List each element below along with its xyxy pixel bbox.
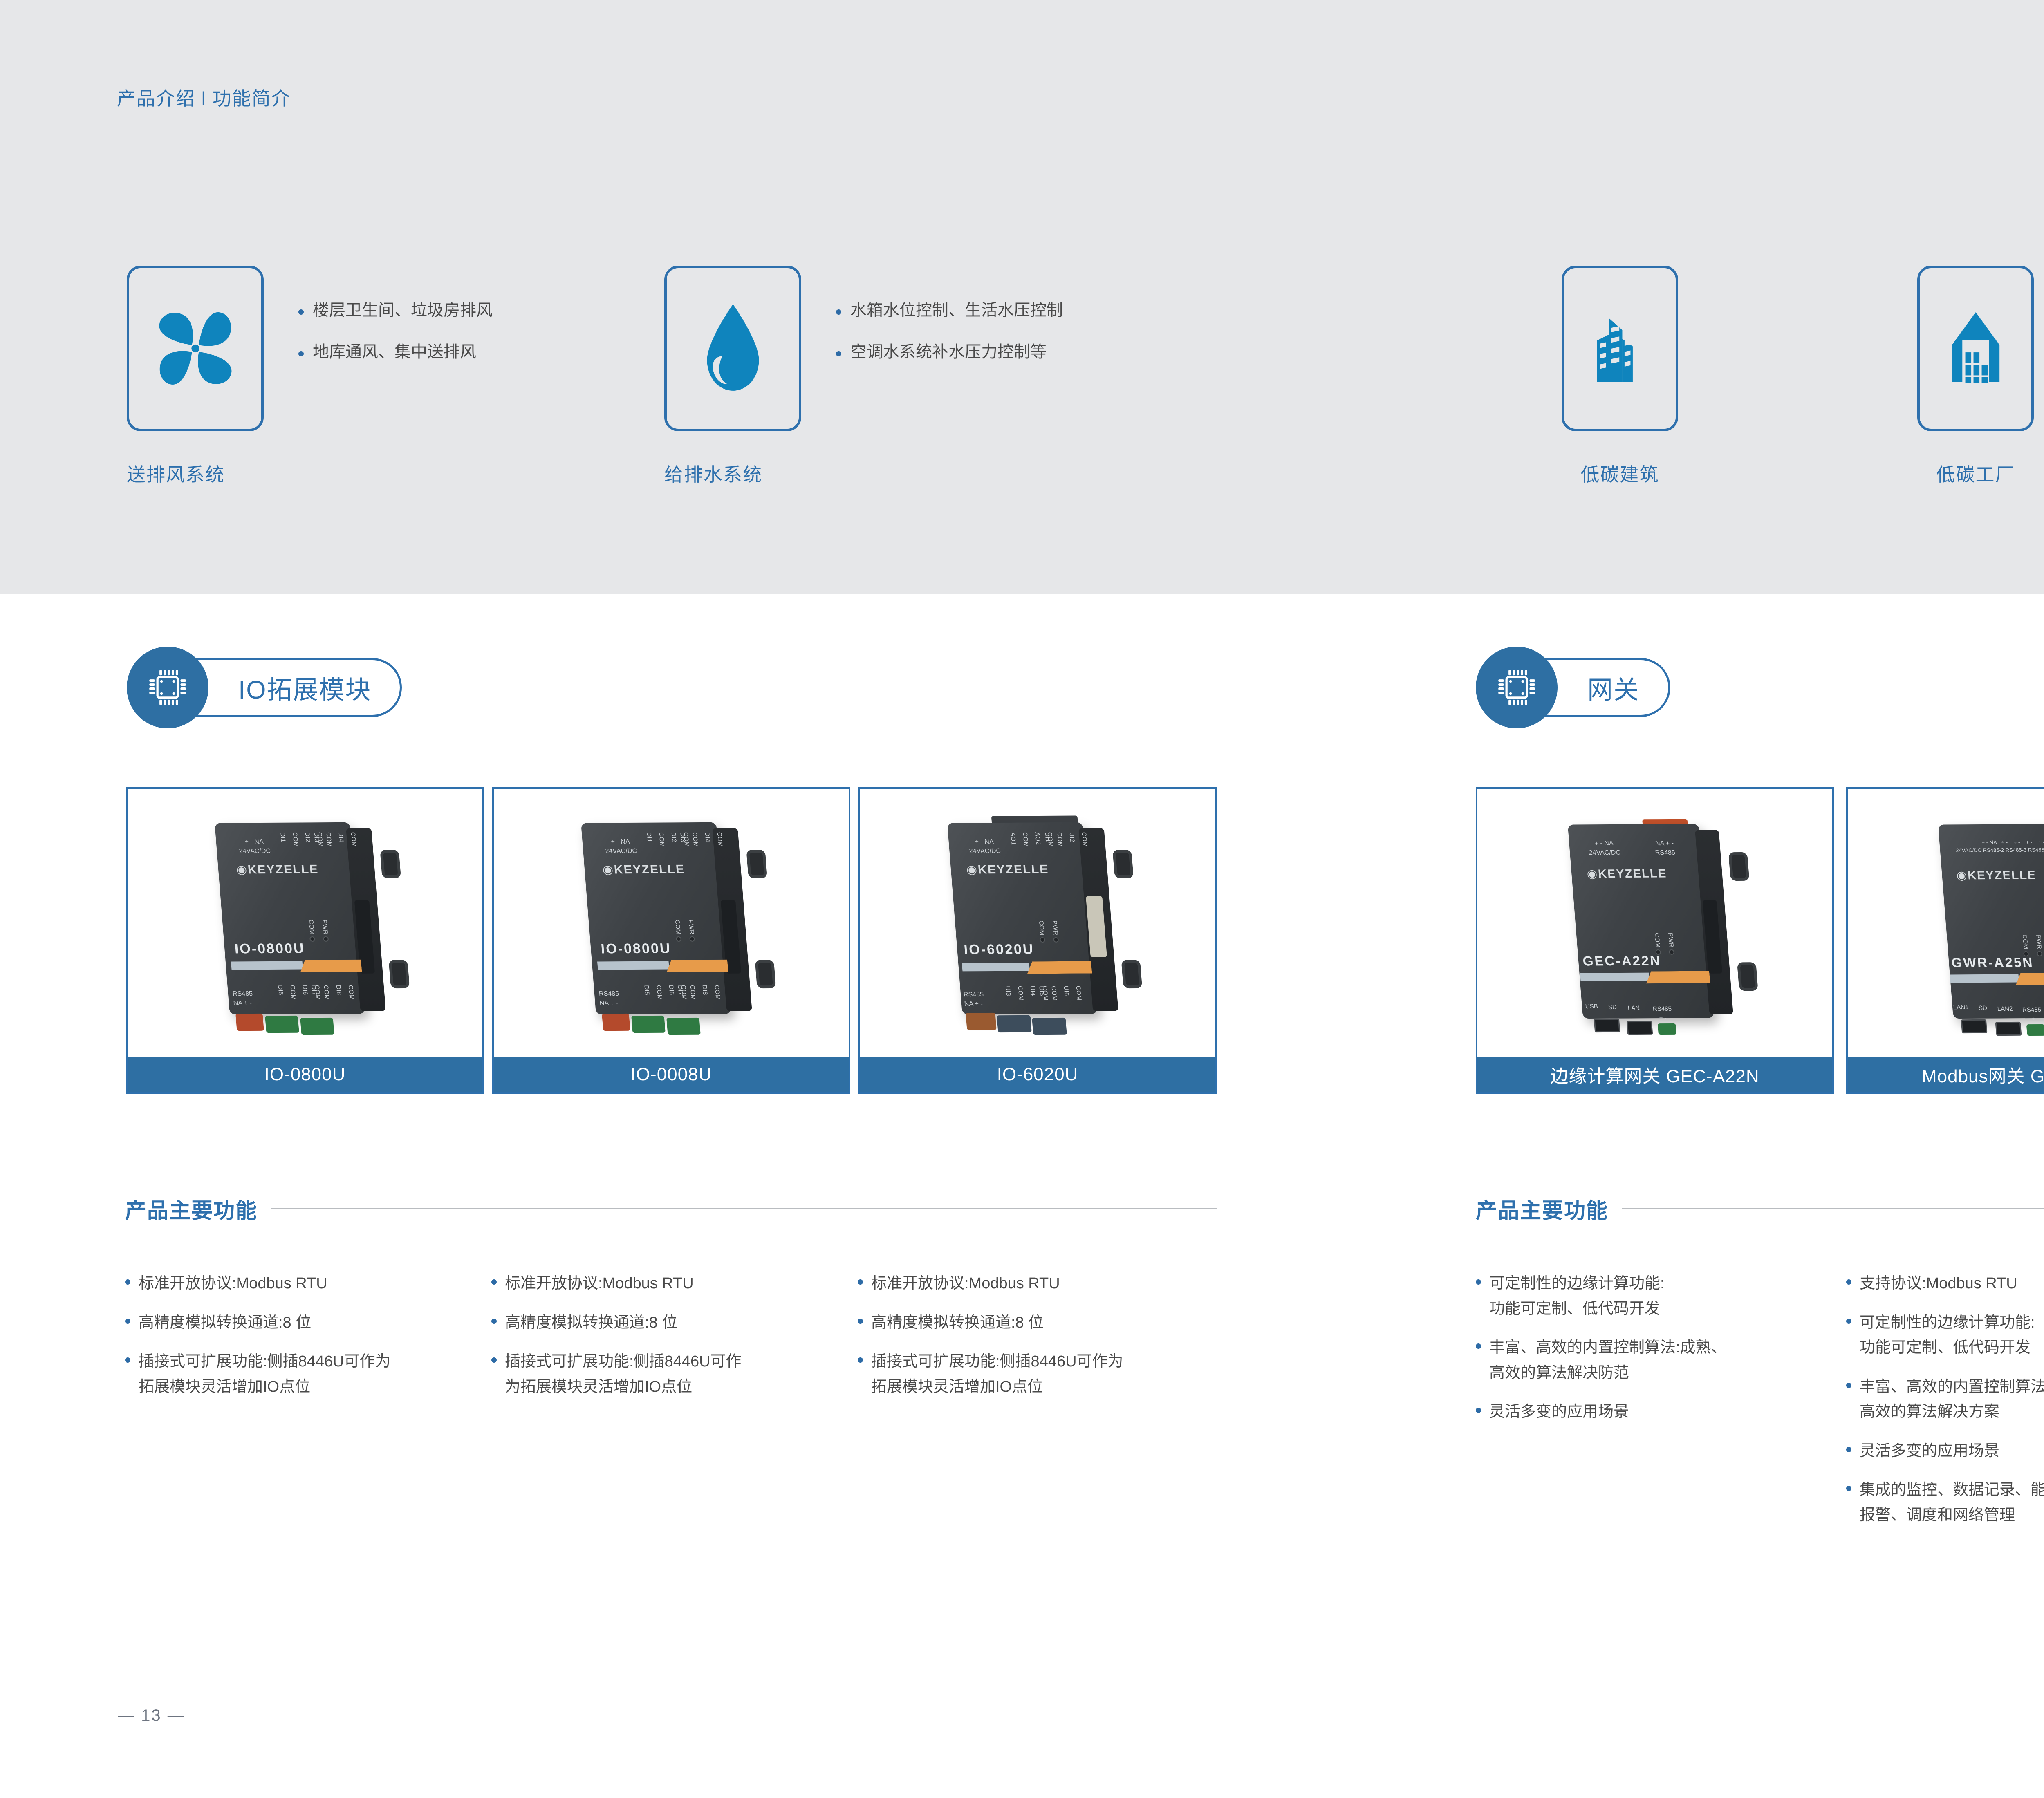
bullet-dot-icon xyxy=(1476,1408,1481,1413)
scenario-title: 给排水系统 xyxy=(664,460,762,487)
feature-text: 标准开放协议:Modbus RTU xyxy=(871,1275,1060,1292)
product-image-io-6020u: + - NA24VAC/DC AO1COMAO2COM UI1COMUI2COM… xyxy=(860,789,1215,1060)
feature-text: 标准开放协议:Modbus RTU xyxy=(505,1275,694,1292)
features-heading-gateways: 产品主要功能 xyxy=(1476,1193,2044,1224)
list-item: 灵活多变的应用场景 xyxy=(1476,1399,1836,1425)
heading-rule xyxy=(1622,1208,2044,1209)
low-carbon-factory-title: 低碳工厂 xyxy=(1917,460,2034,487)
list-item: 空调水系统补水压力控制等 xyxy=(836,342,1063,362)
feature-column-3-io: 标准开放协议:Modbus RTU 高精度模拟转换通道:8 位 插接式可扩展功能… xyxy=(858,1271,1226,1413)
feature-text: 丰富、高效的内置控制算法:成熟、 xyxy=(1860,1378,2044,1395)
chip-icon xyxy=(1476,647,1558,728)
list-item: 标准开放协议:Modbus RTU xyxy=(491,1271,851,1296)
bullet-dot-icon xyxy=(1476,1279,1481,1285)
bullet-text: 地库通风、集中送排风 xyxy=(313,342,476,362)
features-heading-text: 产品主要功能 xyxy=(1476,1193,1608,1224)
feature-text: 插接式可扩展功能:侧插8446U可作为 xyxy=(139,1353,391,1370)
feature-text: 高精度模拟转换通道:8 位 xyxy=(871,1314,1044,1331)
list-item: 地库通风、集中送排风 xyxy=(298,342,493,362)
feature-text: 标准开放协议:Modbus RTU xyxy=(139,1275,327,1292)
feature-text-cont: 报警、调度和网络管理 xyxy=(1860,1503,2044,1528)
product-image-io-0800u: + - NA24VAC/DC DI1COMDI2COM DI3COMDI4COM… xyxy=(128,789,482,1060)
feature-text: 丰富、高效的内置控制算法:成熟、 xyxy=(1489,1339,1727,1356)
features-heading-text: 产品主要功能 xyxy=(125,1193,258,1224)
page-number-left: — 13 — xyxy=(118,1706,185,1725)
bullet-text: 空调水系统补水压力控制等 xyxy=(850,342,1047,362)
product-caption: IO-0008U xyxy=(494,1057,849,1092)
feature-text: 可定制性的边缘计算功能: xyxy=(1489,1275,1665,1292)
product-card-io-6020u[interactable]: + - NA24VAC/DC AO1COMAO2COM UI1COMUI2COM… xyxy=(858,787,1217,1094)
bullet-dot-icon xyxy=(1846,1279,1851,1285)
water-drop-icon xyxy=(667,268,799,429)
product-caption: IO-6020U xyxy=(860,1057,1215,1092)
feature-text: 集成的监控、数据记录、能耗计量、 xyxy=(1860,1481,2044,1498)
office-building-icon xyxy=(1564,268,1676,429)
bullet-dot-icon xyxy=(858,1279,863,1285)
feature-text: 支持协议:Modbus RTU xyxy=(1860,1275,2017,1292)
bullet-dot-icon xyxy=(491,1279,497,1285)
feature-text: 插接式可扩展功能:侧插8446U可作为 xyxy=(871,1353,1123,1370)
product-card-io-0800u[interactable]: + - NA24VAC/DC DI1COMDI2COM DI3COMDI4COM… xyxy=(126,787,484,1094)
features-heading-io: 产品主要功能 xyxy=(125,1193,1217,1224)
product-image-io-0008u: + - NA24VAC/DC DI1COMDI2COM DI3COMDI4COM… xyxy=(494,789,849,1060)
product-card-gec-a22n[interactable]: + - NA24VAC/DC NA + -RS485 ◉KEYZELLE COM… xyxy=(1476,787,1834,1094)
list-item: 楼层卫生间、垃圾房排风 xyxy=(298,300,493,320)
product-image-gec-a22n: + - NA24VAC/DC NA + -RS485 ◉KEYZELLE COM… xyxy=(1477,789,1832,1060)
feature-column-1-io: 标准开放协议:Modbus RTU 高精度模拟转换通道:8 位 插接式可扩展功能… xyxy=(125,1271,485,1413)
list-item: 可定制性的边缘计算功能: 功能可定制、低代码开发 xyxy=(1846,1310,2044,1361)
bullet-dot-icon xyxy=(298,309,304,315)
feature-text: 高精度模拟转换通道:8 位 xyxy=(505,1314,677,1331)
bullet-dot-icon xyxy=(1846,1319,1851,1324)
list-item: 高精度模拟转换通道:8 位 xyxy=(491,1310,851,1336)
list-item: 支持协议:Modbus RTU xyxy=(1846,1271,2044,1296)
feature-text: 灵活多变的应用场景 xyxy=(1860,1442,1999,1460)
section-title: 网关 xyxy=(1587,669,1640,706)
list-item: 标准开放协议:Modbus RTU xyxy=(125,1271,485,1296)
feature-text-cont: 高效的算法解决方案 xyxy=(1860,1399,2044,1425)
scenario-title: 送排风系统 xyxy=(127,460,225,487)
low-carbon-building-frame xyxy=(1562,266,1678,431)
product-image-gwr-a25n: + - NA + - + - + - + -24VAC/DC RS485-2 R… xyxy=(1848,789,2044,1060)
fan-icon-frame xyxy=(127,266,264,431)
product-card-gwr-a25n[interactable]: + - NA + - + - + - + -24VAC/DC RS485-2 R… xyxy=(1846,787,2044,1094)
bullet-dot-icon xyxy=(125,1357,130,1363)
feature-text: 插接式可扩展功能:侧插8446U可作 xyxy=(505,1353,742,1370)
bullet-dot-icon xyxy=(1846,1447,1851,1452)
bullet-dot-icon xyxy=(491,1357,497,1363)
list-item: 水箱水位控制、生活水压控制 xyxy=(836,300,1063,320)
feature-text-cont: 拓展模块灵活增加IO点位 xyxy=(139,1375,391,1400)
feature-text-cont: 高效的算法解决防范 xyxy=(1489,1361,1727,1386)
bullet-dot-icon xyxy=(836,351,841,356)
bullet-dot-icon xyxy=(298,351,304,356)
water-bullet-list: 水箱水位控制、生活水压控制 空调水系统补水压力控制等 xyxy=(836,300,1063,384)
bullet-dot-icon xyxy=(836,309,841,315)
feature-column-1-gw: 可定制性的边缘计算功能: 功能可定制、低代码开发 丰富、高效的内置控制算法:成熟… xyxy=(1476,1271,1836,1439)
low-carbon-building-title: 低碳建筑 xyxy=(1562,460,1678,487)
feature-text-cont: 功能可定制、低代码开发 xyxy=(1489,1296,1665,1322)
bullet-dot-icon xyxy=(491,1319,497,1324)
bullet-dot-icon xyxy=(1476,1343,1481,1349)
feature-text: 高精度模拟转换通道:8 位 xyxy=(139,1314,311,1331)
product-card-io-0008u[interactable]: + - NA24VAC/DC DI1COMDI2COM DI3COMDI4COM… xyxy=(492,787,850,1094)
list-item: 插接式可扩展功能:侧插8446U可作为 拓展模块灵活增加IO点位 xyxy=(125,1349,485,1399)
feature-column-2-io: 标准开放协议:Modbus RTU 高精度模拟转换通道:8 位 插接式可扩展功能… xyxy=(491,1271,851,1413)
water-drop-icon-frame xyxy=(664,266,801,431)
heading-rule xyxy=(271,1208,1217,1209)
feature-column-2-gw: 支持协议:Modbus RTU 可定制性的边缘计算功能: 功能可定制、低代码开发… xyxy=(1846,1271,2044,1542)
section-title: IO拓展模块 xyxy=(238,669,371,706)
feature-text-cont: 拓展模块灵活增加IO点位 xyxy=(871,1375,1123,1400)
list-item: 集成的监控、数据记录、能耗计量、 报警、调度和网络管理 xyxy=(1846,1478,2044,1528)
bullet-dot-icon xyxy=(858,1319,863,1324)
feature-text: 可定制性的边缘计算功能: xyxy=(1860,1314,2035,1331)
chip-icon xyxy=(127,647,208,728)
bullet-text: 水箱水位控制、生活水压控制 xyxy=(850,300,1063,320)
top-grey-band xyxy=(0,0,2044,594)
feature-text: 灵活多变的应用场景 xyxy=(1489,1403,1629,1420)
running-header-left: 产品介绍 l 功能简介 xyxy=(117,84,291,111)
list-item: 高精度模拟转换通道:8 位 xyxy=(858,1310,1226,1336)
list-item: 丰富、高效的内置控制算法:成熟、 高效的算法解决防范 xyxy=(1476,1335,1836,1386)
brochure-spread: 产品介绍 l 功能简介 产品介绍 l 功能简介 楼层卫生间、垃圾房 xyxy=(0,0,2044,1798)
bullet-dot-icon xyxy=(125,1279,130,1285)
fan-icon xyxy=(129,268,261,429)
bullet-text: 楼层卫生间、垃圾房排风 xyxy=(313,300,493,320)
bullet-dot-icon xyxy=(858,1357,863,1363)
bullet-dot-icon xyxy=(1846,1486,1851,1491)
feature-text-cont: 为拓展模块灵活增加IO点位 xyxy=(505,1375,742,1400)
product-caption: Modbus网关 GWR-A25N xyxy=(1848,1057,2044,1092)
low-carbon-factory-frame xyxy=(1917,266,2034,431)
list-item: 插接式可扩展功能:侧插8446U可作为 拓展模块灵活增加IO点位 xyxy=(858,1349,1226,1399)
list-item: 丰富、高效的内置控制算法:成熟、 高效的算法解决方案 xyxy=(1846,1375,2044,1425)
list-item: 可定制性的边缘计算功能: 功能可定制、低代码开发 xyxy=(1476,1271,1836,1321)
factory-icon xyxy=(1920,268,2031,429)
ventilation-bullet-list: 楼层卫生间、垃圾房排风 地库通风、集中送排风 xyxy=(298,300,493,384)
list-item: 标准开放协议:Modbus RTU xyxy=(858,1271,1226,1296)
bullet-dot-icon xyxy=(1846,1383,1851,1388)
list-item: 高精度模拟转换通道:8 位 xyxy=(125,1310,485,1336)
product-caption: IO-0800U xyxy=(128,1057,482,1092)
bullet-dot-icon xyxy=(125,1319,130,1324)
product-caption: 边缘计算网关 GEC-A22N xyxy=(1477,1057,1832,1092)
feature-text-cont: 功能可定制、低代码开发 xyxy=(1860,1335,2035,1361)
list-item: 插接式可扩展功能:侧插8446U可作 为拓展模块灵活增加IO点位 xyxy=(491,1349,851,1399)
list-item: 灵活多变的应用场景 xyxy=(1846,1439,2044,1464)
